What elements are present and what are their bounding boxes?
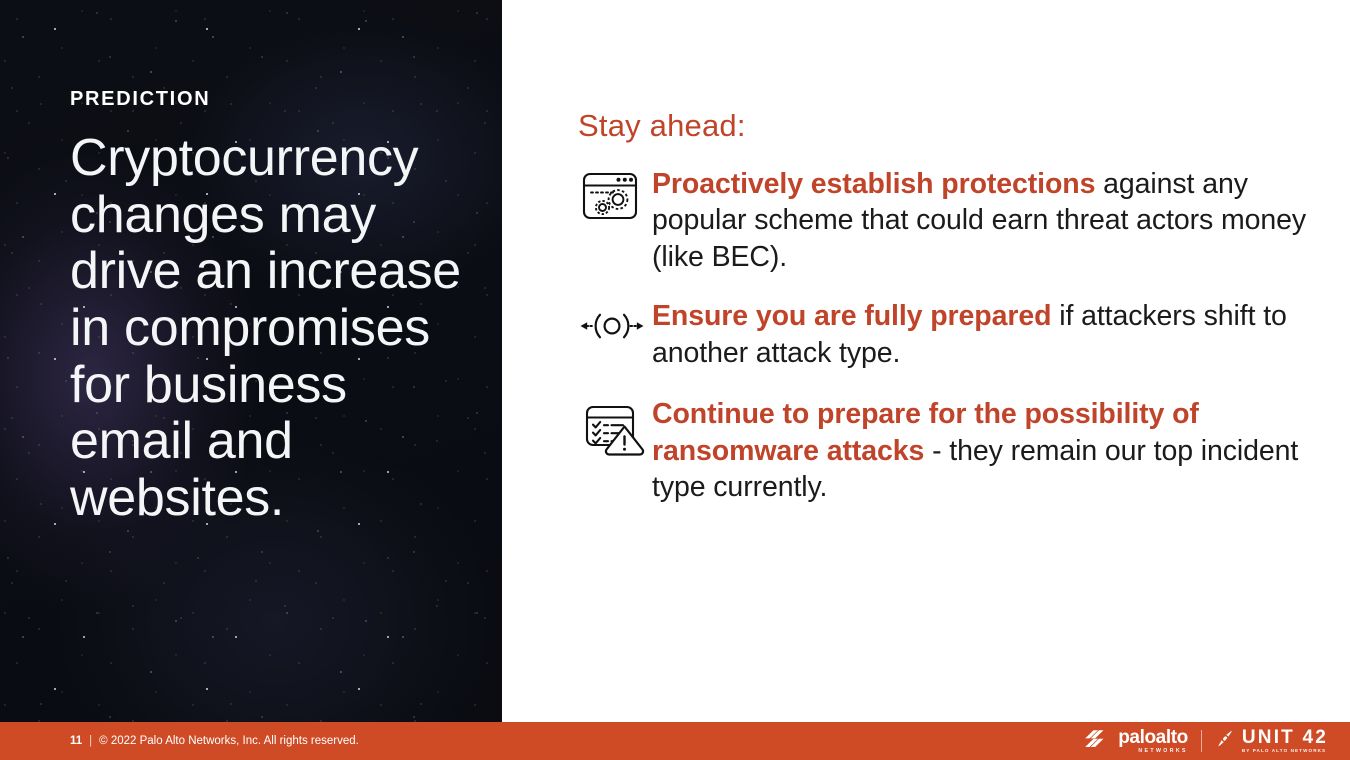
list-item-text: Proactively establish protections agains… bbox=[652, 165, 1332, 275]
footer-logo-divider bbox=[1201, 730, 1202, 752]
footer-copyright: © 2022 Palo Alto Networks, Inc. All righ… bbox=[99, 735, 359, 747]
unit42-wordmark: UNIT 42 BY PALO ALTO NETWORKS bbox=[1242, 728, 1328, 754]
left-starfield-panel: PREDICTION Cryptocurrency changes may dr… bbox=[0, 0, 502, 722]
checklist-warning-icon bbox=[572, 395, 652, 471]
list-item-text: Ensure you are fully prepared if attacke… bbox=[652, 297, 1332, 371]
paloalto-subtitle: NETWORKS bbox=[1118, 749, 1188, 754]
prediction-headline: Cryptocurrency changes may drive an incr… bbox=[70, 130, 470, 527]
prediction-eyebrow-label: PREDICTION bbox=[70, 88, 470, 110]
browser-gears-icon bbox=[572, 165, 652, 241]
list-item: Continue to prepare for the possibility … bbox=[572, 395, 1332, 505]
unit42-name: UNIT 42 bbox=[1242, 728, 1328, 747]
footer-page-number: 11 bbox=[70, 735, 82, 747]
unit42-mark-icon bbox=[1215, 729, 1235, 754]
section-heading-stay-ahead: Stay ahead: bbox=[578, 107, 746, 144]
recommendations-list: Proactively establish protections agains… bbox=[572, 165, 1332, 528]
list-item: Proactively establish protections agains… bbox=[572, 165, 1332, 275]
list-item-highlight: Proactively establish protections bbox=[652, 168, 1095, 200]
footer-left-group: 11 | © 2022 Palo Alto Networks, Inc. All… bbox=[70, 735, 359, 747]
footer-logos-group: paloalto NETWORKS UNIT 42 BY PALO ALTO N… bbox=[1085, 722, 1328, 760]
list-item-highlight: Ensure you are fully prepared bbox=[652, 300, 1051, 332]
list-item-text: Continue to prepare for the possibility … bbox=[652, 395, 1332, 505]
paloalto-logo: paloalto NETWORKS bbox=[1085, 728, 1188, 754]
slide-footer-bar: 11 | © 2022 Palo Alto Networks, Inc. All… bbox=[0, 722, 1350, 760]
right-content-panel: Stay ahead: bbox=[502, 0, 1350, 722]
left-panel-content: PREDICTION Cryptocurrency changes may dr… bbox=[70, 88, 470, 527]
target-expand-icon bbox=[572, 297, 652, 373]
paloalto-wordmark: paloalto NETWORKS bbox=[1118, 728, 1188, 754]
unit42-subtitle: BY PALO ALTO NETWORKS bbox=[1242, 749, 1328, 754]
list-item: Ensure you are fully prepared if attacke… bbox=[572, 297, 1332, 373]
footer-separator: | bbox=[89, 735, 92, 747]
slide-canvas: PREDICTION Cryptocurrency changes may dr… bbox=[0, 0, 1350, 760]
paloalto-mark-icon bbox=[1085, 729, 1111, 753]
paloalto-name: paloalto bbox=[1118, 728, 1188, 747]
unit42-logo: UNIT 42 BY PALO ALTO NETWORKS bbox=[1215, 728, 1328, 754]
